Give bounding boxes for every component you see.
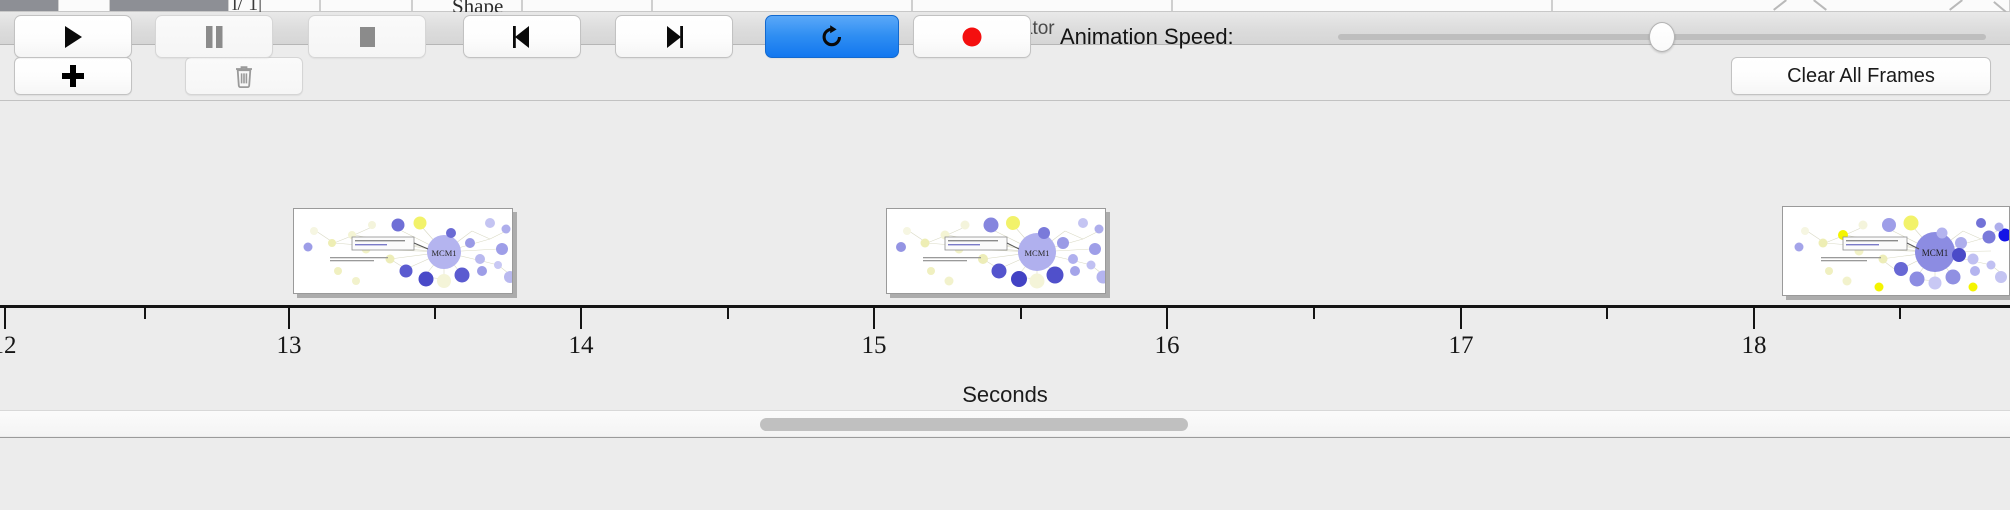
frame-thumbnail-3[interactable]: MCM1: [1782, 206, 2010, 296]
axis-tick-major: [4, 308, 6, 329]
skip-to-start-icon: [510, 24, 534, 50]
hub-node-label: MCM1: [1922, 248, 1949, 258]
axis-label-17: 17: [1449, 332, 1474, 360]
clear-all-frames-button[interactable]: Clear All Frames: [1731, 57, 1991, 95]
play-icon: [61, 24, 85, 50]
animation-speed-slider[interactable]: [1338, 15, 1986, 58]
frame-thumbnail-1[interactable]: MCM1: [293, 208, 513, 294]
hub-node-label: MCM1: [1024, 248, 1049, 258]
axis-tick-minor: [144, 308, 146, 319]
axis-tick-minor: [1020, 308, 1022, 319]
trash-icon: [233, 64, 255, 88]
axis-tick-minor: [1606, 308, 1608, 319]
timeline-scrollbar-track[interactable]: [0, 410, 2010, 436]
add-frame-button[interactable]: [14, 57, 132, 95]
axis-label-13: 13: [277, 332, 302, 360]
axis-tick-major: [873, 308, 875, 329]
timeline-scrollbar-thumb[interactable]: [760, 418, 1188, 431]
axis-tick-major: [1166, 308, 1168, 329]
axis-tick-minor: [434, 308, 436, 319]
playback-control-bar: [0, 437, 2010, 510]
pause-button[interactable]: [155, 15, 273, 58]
pause-icon: [203, 24, 225, 50]
axis-label-16: 16: [1155, 332, 1180, 360]
axis-tick-major: [580, 308, 582, 329]
frame-thumbnail-2[interactable]: MCM1: [886, 208, 1106, 294]
skip-to-end-icon: [662, 24, 686, 50]
timeline-panel[interactable]: MCM1: [0, 102, 2010, 402]
axis-label-12: 12: [0, 332, 17, 360]
play-button[interactable]: [14, 15, 132, 58]
skip-to-start-button[interactable]: [463, 15, 581, 58]
loop-icon: [819, 24, 845, 50]
animation-speed-label: Animation Speed:: [1060, 15, 1234, 58]
hub-node-label: MCM1: [431, 248, 456, 258]
plus-icon: [62, 65, 84, 87]
background-desktop-strip: [0, 0, 2010, 12]
axis-title: Seconds: [0, 382, 2010, 408]
axis-tick-minor: [727, 308, 729, 319]
slider-thumb[interactable]: [1649, 22, 1675, 52]
axis-tick-major: [288, 308, 290, 329]
axis-label-15: 15: [862, 332, 887, 360]
axis-tick-minor: [1899, 308, 1901, 319]
axis-tick-minor: [1313, 308, 1315, 319]
axis-tick-major: [1753, 308, 1755, 329]
record-button[interactable]: [913, 15, 1031, 58]
axis-label-18: 18: [1742, 332, 1767, 360]
stop-icon: [356, 24, 378, 50]
axis-label-14: 14: [569, 332, 594, 360]
skip-to-end-button[interactable]: [615, 15, 733, 58]
record-icon: [959, 24, 985, 50]
timeline-axis: [0, 305, 2010, 308]
delete-frame-button[interactable]: [185, 57, 303, 95]
clear-all-frames-label: Clear All Frames: [1787, 65, 1935, 88]
loop-button[interactable]: [765, 15, 899, 58]
axis-tick-major: [1460, 308, 1462, 329]
stop-button[interactable]: [308, 15, 426, 58]
cyanimator-window: l/ 1| Shape CyAnimator Clear All Frames: [0, 0, 2010, 510]
